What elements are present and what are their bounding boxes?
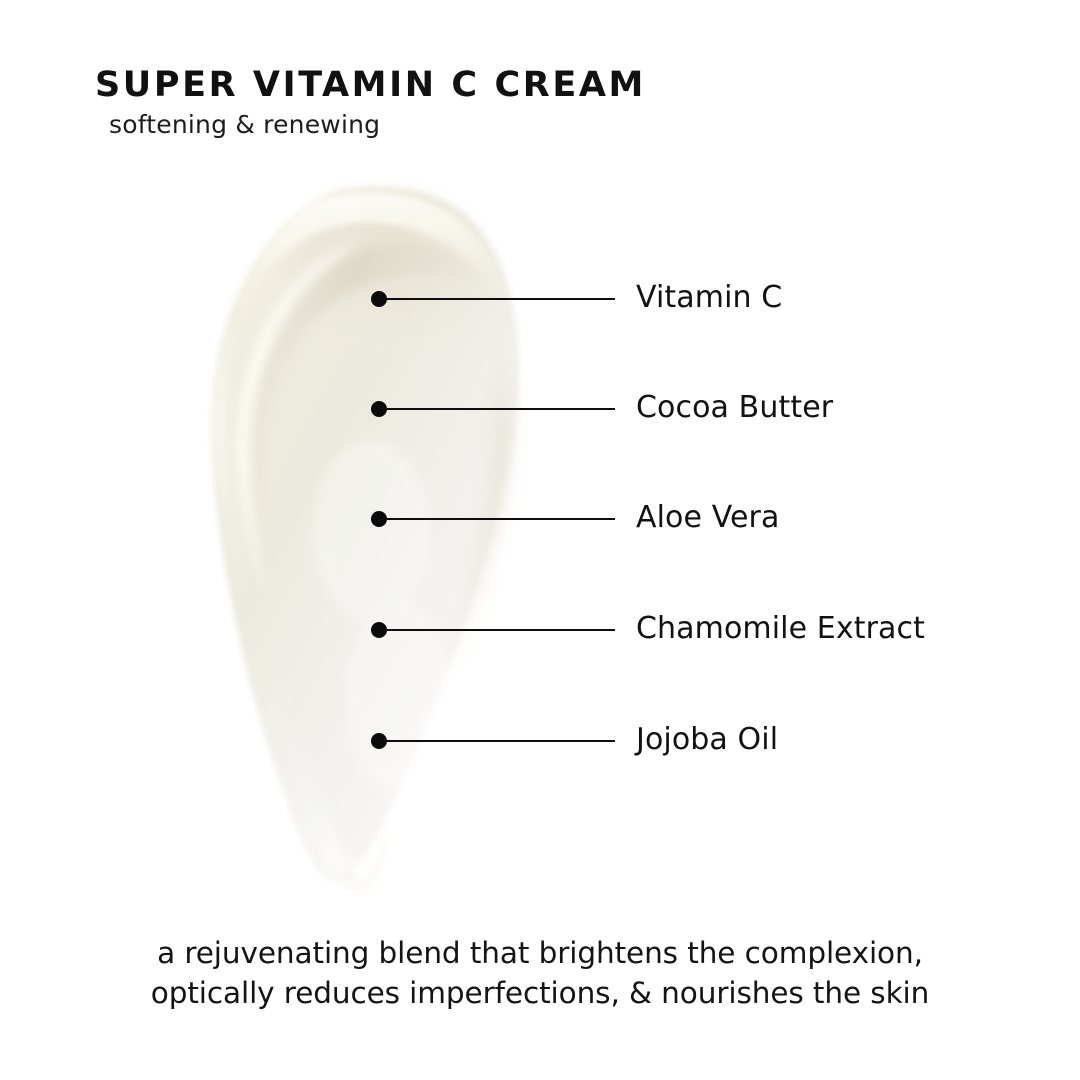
ingredient-label-chamomile-extract: Chamomile Extract [636,609,925,650]
ingredient-label-jojoba-oil: Jojoba Oil [636,720,778,761]
ingredient-label-aloe-vera: Aloe Vera [636,498,779,539]
description-line-2: optically reduces imperfections, & nouri… [0,973,1080,1013]
header-block: SUPER VITAMIN C CREAM softening & renewi… [95,66,855,140]
ingredient-label-cocoa-butter: Cocoa Butter [636,388,833,429]
product-description: a rejuvenating blend that brightens the … [0,933,1080,1013]
poster-canvas: SUPER VITAMIN C CREAM softening & renewi… [0,0,1080,1080]
ingredient-label-vitamin-c: Vitamin C [636,278,782,319]
page-title: SUPER VITAMIN C CREAM [95,66,855,105]
cream-swatch [140,175,560,905]
description-line-1: a rejuvenating blend that brightens the … [0,933,1080,973]
page-subtitle: softening & renewing [109,111,855,140]
